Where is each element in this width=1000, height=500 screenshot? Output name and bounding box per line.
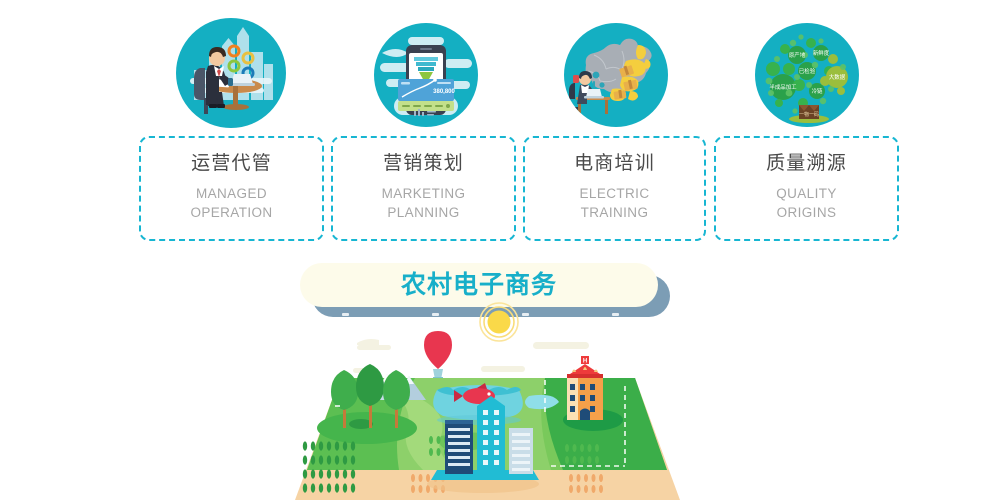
hot-air-balloon-icon: [424, 331, 452, 379]
card-title-en: ELECTRIC TRAINING: [580, 184, 650, 222]
card-title-en: QUALITY ORIGINS: [776, 184, 837, 222]
cloud-icon: [353, 339, 589, 373]
card-electric-training[interactable]: 电商培训 ELECTRIC TRAINING: [523, 136, 706, 241]
rural-landscape-illustration: H: [295, 300, 680, 500]
svg-text:380,800: 380,800: [433, 89, 455, 95]
card-marketing-planning[interactable]: 营销策划 MARKETING PLANNING: [331, 136, 516, 241]
marketing-planning-illustration-icon: 380,800: [374, 23, 478, 127]
managed-operation-icon-circle: [176, 18, 286, 128]
card-title-cn: 营销策划: [383, 154, 464, 175]
electric-training-illustration-icon: [564, 23, 668, 127]
card-title-cn: 质量溯源: [766, 154, 847, 175]
card-title-en: MARKETING PLANNING: [382, 184, 466, 222]
electric-training-icon-circle: [564, 23, 668, 127]
card-quality-origins[interactable]: 质量溯源 QUALITY ORIGINS: [714, 136, 899, 241]
card-title-cn: 运营代管: [191, 154, 272, 175]
svg-text:一物一码: 一物一码: [799, 111, 819, 118]
card-title-cn: 电商培训: [574, 154, 655, 175]
svg-text:半成品加工: 半成品加工: [770, 83, 798, 91]
svg-text:H: H: [583, 359, 587, 365]
marketing-planning-icon-circle: 380,800: [374, 23, 478, 127]
sun-icon: [480, 303, 518, 341]
quality-origins-icon-circle: 半成品加工 原产地 新鲜度 已检验 冷链 大数据 一物一码: [755, 23, 859, 127]
banner-title: 农村电子商务: [401, 273, 557, 298]
card-title-en: MANAGED OPERATION: [190, 184, 272, 222]
infographic-canvas: 380,800: [0, 0, 1000, 500]
card-managed-operation[interactable]: 运营代管 MANAGED OPERATION: [139, 136, 324, 241]
svg-text:原产地: 原产地: [789, 51, 806, 59]
quality-origins-illustration-icon: 半成品加工 原产地 新鲜度 已检验 冷链 大数据 一物一码: [755, 23, 859, 127]
svg-text:大数据: 大数据: [829, 73, 846, 81]
svg-text:新鲜度: 新鲜度: [813, 49, 830, 57]
managed-operation-illustration-icon: [176, 18, 286, 128]
svg-text:冷链: 冷链: [812, 87, 823, 95]
svg-text:已检验: 已检验: [799, 67, 816, 75]
